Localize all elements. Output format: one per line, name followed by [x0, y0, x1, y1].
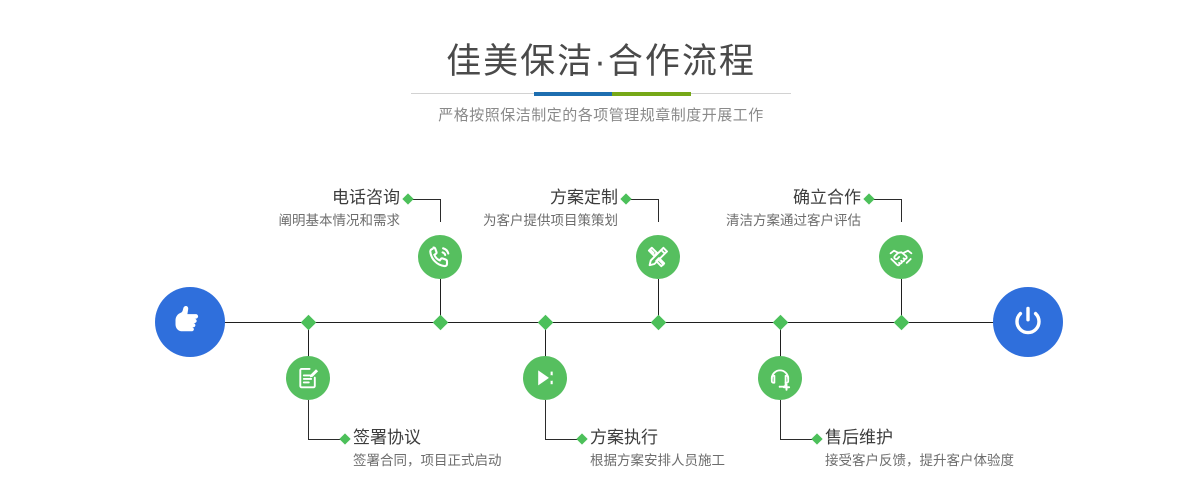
label-title-step-6: 售后维护	[825, 428, 1155, 448]
label-step-3: 方案定制 为客户提供项目策策划	[340, 188, 618, 230]
connector-endpoint-step-5	[863, 193, 874, 204]
label-step-6: 售后维护 接受客户反馈，提升客户体验度	[825, 428, 1155, 470]
connector-vertical-step-4	[545, 400, 546, 439]
connector-vertical-step-5	[901, 199, 902, 222]
connector-endpoint-step-2	[339, 433, 350, 444]
play-execute-icon	[530, 363, 560, 393]
axis-marker-step-1	[433, 315, 449, 331]
label-desc-step-6: 接受客户反馈，提升客户体验度	[825, 452, 1155, 470]
label-step-5: 确立合作 清洁方案通过客户评估	[583, 188, 861, 230]
connector-vertical-step-2	[308, 400, 309, 439]
connector-horizontal-step-5	[871, 199, 902, 200]
node-icon-step-3	[636, 235, 680, 279]
phone-call-icon	[425, 242, 455, 272]
pencil-ruler-icon	[643, 242, 673, 272]
connector-vertical-step-6	[780, 400, 781, 439]
axis-marker-step-5	[894, 315, 910, 331]
power-icon	[1007, 301, 1049, 343]
divider-segment-green	[612, 92, 691, 96]
timeline-end-node	[993, 287, 1063, 357]
axis-marker-step-4	[538, 315, 554, 331]
document-sign-icon	[293, 363, 323, 393]
axis-marker-step-3	[651, 315, 667, 331]
handshake-icon	[886, 242, 916, 272]
pointing-hand-icon	[169, 301, 211, 343]
node-icon-step-1	[418, 235, 462, 279]
node-icon-step-2	[286, 356, 330, 400]
divider-segment-blue	[534, 92, 612, 96]
page-subtitle: 严格按照保洁制定的各项管理规章制度开展工作	[0, 107, 1202, 125]
page-title: 佳美保洁·合作流程	[0, 44, 1202, 79]
node-icon-step-5	[879, 235, 923, 279]
node-icon-step-6	[758, 356, 802, 400]
title-divider	[411, 93, 791, 94]
headset-support-icon	[765, 363, 795, 393]
node-icon-step-4	[523, 356, 567, 400]
label-desc-step-5: 清洁方案通过客户评估	[583, 212, 861, 230]
timeline-start-node	[155, 287, 225, 357]
label-title-step-5: 确立合作	[583, 188, 861, 208]
axis-marker-step-6	[773, 315, 789, 331]
title-divider-colored	[534, 93, 691, 94]
label-desc-step-3: 为客户提供项目策策划	[340, 212, 618, 230]
flow-diagram-canvas: 佳美保洁·合作流程 严格按照保洁制定的各项管理规章制度开展工作	[0, 0, 1202, 502]
label-title-step-3: 方案定制	[340, 188, 618, 208]
axis-marker-step-2	[301, 315, 317, 331]
